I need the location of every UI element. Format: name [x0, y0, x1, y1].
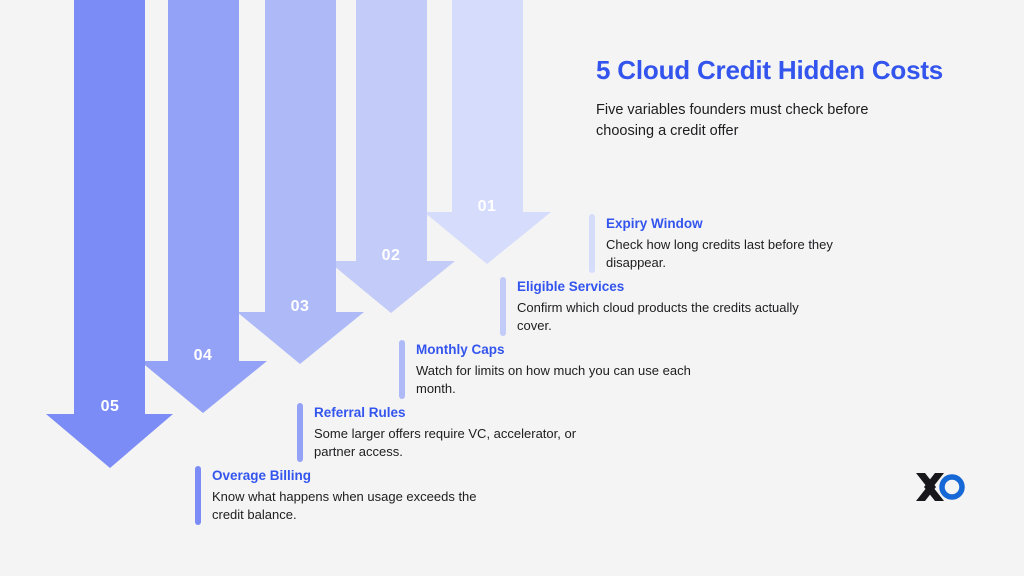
step-description: Some larger offers require VC, accelerat… [314, 425, 597, 463]
step-body: Referral Rules Some larger offers requir… [314, 403, 597, 462]
step-title: Expiry Window [606, 215, 851, 233]
xo-logo [914, 470, 970, 504]
page-title: 5 Cloud Credit Hidden Costs [596, 56, 996, 86]
step-accent-bar [589, 214, 595, 273]
arrow-shape-04 [140, 0, 267, 413]
xo-logo-icon [914, 470, 970, 504]
step-title: Eligible Services [517, 278, 830, 296]
step-description: Confirm which cloud products the credits… [517, 299, 830, 337]
step-accent-bar [500, 277, 506, 336]
step-title: Referral Rules [314, 404, 597, 422]
header-block: 5 Cloud Credit Hidden Costs Five variabl… [596, 56, 996, 142]
step-item-overage-billing: Overage Billing Know what happens when u… [195, 466, 495, 525]
step-description: Know what happens when usage exceeds the… [212, 488, 495, 526]
page-subtitle: Five variables founders must check befor… [596, 100, 906, 142]
arrow-shape-03 [237, 0, 364, 364]
step-item-expiry-window: Expiry Window Check how long credits las… [589, 214, 851, 273]
step-title: Monthly Caps [416, 341, 715, 359]
step-accent-bar [195, 466, 201, 525]
step-description: Check how long credits last before they … [606, 236, 851, 274]
step-accent-bar [297, 403, 303, 462]
arrow-shape-01 [424, 0, 551, 264]
step-item-referral-rules: Referral Rules Some larger offers requir… [297, 403, 597, 462]
step-item-monthly-caps: Monthly Caps Watch for limits on how muc… [399, 340, 715, 399]
infographic-canvas: 01 02 03 04 05 5 Cloud Credit Hidden Cos… [0, 0, 1024, 576]
step-body: Eligible Services Confirm which cloud pr… [517, 277, 830, 336]
arrow-shape-02 [328, 0, 455, 313]
step-body: Monthly Caps Watch for limits on how muc… [416, 340, 715, 399]
step-body: Overage Billing Know what happens when u… [212, 466, 495, 525]
step-accent-bar [399, 340, 405, 399]
arrow-shape-05 [46, 0, 173, 468]
step-title: Overage Billing [212, 467, 495, 485]
step-item-eligible-services: Eligible Services Confirm which cloud pr… [500, 277, 830, 336]
step-description: Watch for limits on how much you can use… [416, 362, 715, 400]
step-body: Expiry Window Check how long credits las… [606, 214, 851, 273]
